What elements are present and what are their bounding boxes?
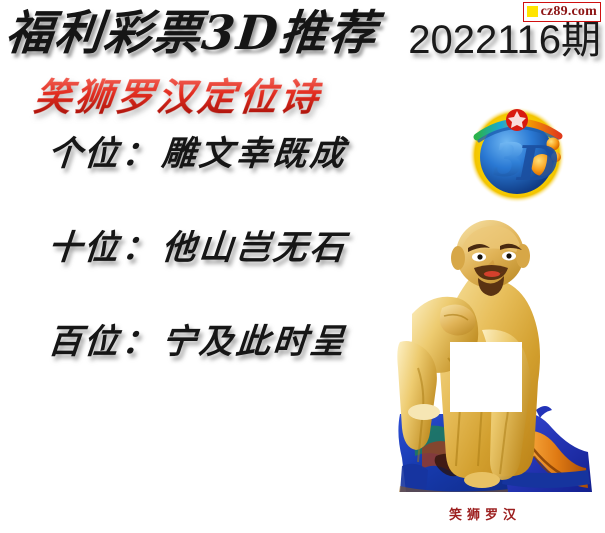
poem-line-hundreds-colon: ： (118, 322, 163, 362)
poem-line-tens-position: 十位 (46, 228, 121, 268)
yellow-square-icon (527, 6, 538, 17)
poem-line-hundreds: 百位：宁及此时呈 (46, 320, 349, 364)
3d-lottery-logo: 3 D (463, 100, 571, 208)
poem-line-tens: 十位：他山岂无石 (46, 226, 349, 270)
poem-line-ones-colon: ： (118, 134, 163, 174)
poem-line-hundreds-position: 百位 (46, 322, 121, 362)
issue-number: 2022116期 (408, 18, 601, 62)
blank-number-box (450, 342, 522, 412)
page-title: 福利彩票3D推荐 (3, 6, 380, 62)
lottery-recommendation-poster: cz89.com 福利彩票3D推荐 2022116期 笑狮罗汉定位诗 个位：雕文… (0, 0, 605, 533)
header: 福利彩票3D推荐 2022116期 (0, 4, 605, 66)
poem-line-ones: 个位：雕文幸既成 (46, 132, 349, 176)
poem-line-hundreds-phrase: 宁及此时呈 (160, 322, 348, 362)
poem-line-ones-phrase: 雕文幸既成 (160, 134, 348, 174)
poem-line-ones-position: 个位 (46, 134, 121, 174)
poem-line-tens-phrase: 他山岂无石 (160, 228, 348, 268)
china-welfare-lottery-emblem (506, 109, 528, 131)
svg-text:D: D (515, 136, 559, 192)
statue-head (451, 220, 530, 296)
site-badge-label: cz89.com (541, 5, 597, 19)
artwork-caption: 笑狮罗汉 (415, 508, 555, 524)
site-badge[interactable]: cz89.com (523, 2, 601, 22)
subtitle: 笑狮罗汉定位诗 (31, 74, 324, 120)
poem-line-tens-colon: ： (118, 228, 163, 268)
